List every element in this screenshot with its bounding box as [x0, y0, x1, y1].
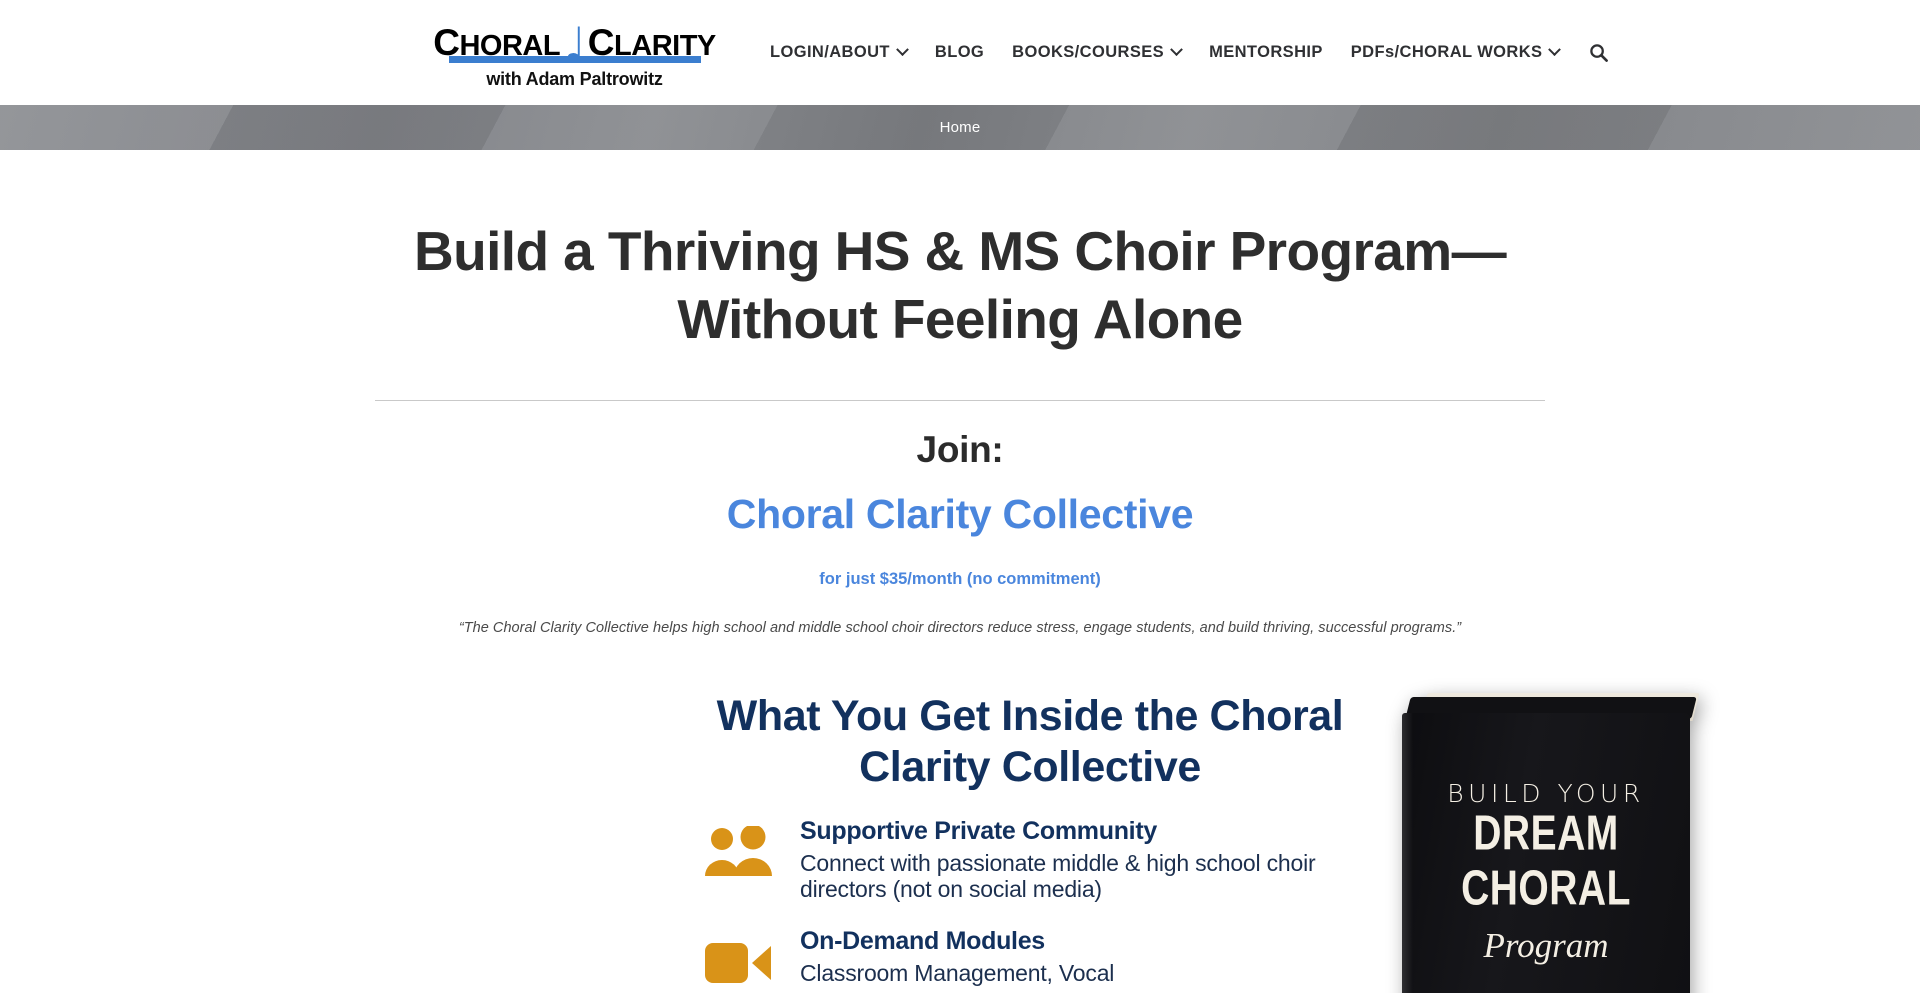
book-cover-text: BUILD YOUR DREAM CHORAL Program	[1402, 779, 1690, 966]
benefit-description: Connect with passionate middle & high sc…	[800, 850, 1360, 903]
people-group-icon	[703, 826, 775, 878]
price-line: for just $35/month (no commitment)	[819, 570, 1100, 589]
nav-item-books-courses[interactable]: BOOKS/COURSES	[998, 43, 1195, 62]
search-icon	[1589, 43, 1608, 62]
search-button[interactable]	[1573, 43, 1622, 62]
collective-name: Choral Clarity Collective	[727, 491, 1193, 538]
benefits-left-column: What You Get Inside the Choral Clarity C…	[700, 691, 1360, 991]
benefit-text: Supportive Private Community Connect wit…	[800, 817, 1360, 903]
book-title-line1: BUILD YOUR	[1402, 779, 1690, 808]
main-content: Build a Thriving HS & MS Choir Program—W…	[0, 150, 1920, 993]
nav-item-login-about[interactable]: LOGIN/ABOUT	[756, 43, 921, 62]
page-title: Build a Thriving HS & MS Choir Program—W…	[370, 218, 1550, 353]
chevron-down-icon	[1170, 43, 1183, 56]
benefit-item-modules: On-Demand Modules Classroom Management, …	[700, 927, 1360, 991]
benefit-item-community: Supportive Private Community Connect wit…	[700, 817, 1360, 903]
logo-clarity-cap: C	[588, 24, 614, 61]
benefits-section: What You Get Inside the Choral Clarity C…	[370, 691, 1550, 993]
logo-choral-cap: C	[433, 24, 459, 61]
nav-item-label: BLOG	[935, 43, 984, 62]
nav-item-label: PDFs/CHORAL WORKS	[1351, 43, 1543, 62]
benefit-title: On-Demand Modules	[800, 927, 1360, 956]
nav-item-label: MENTORSHIP	[1209, 43, 1323, 62]
logo-clarity-rest: LARITY	[614, 32, 716, 61]
nav-item-blog[interactable]: BLOG	[921, 43, 998, 62]
chevron-down-icon	[1549, 43, 1562, 56]
nav-item-mentorship[interactable]: MENTORSHIP	[1195, 43, 1337, 62]
treble-clef-icon: ♩	[564, 27, 586, 63]
breadcrumb-bar: Home	[0, 105, 1920, 150]
header-inner: CHORAL ♩ CLARITY with Adam Paltrowitz LO…	[0, 15, 1920, 90]
logo-choral-rest: HORAL	[459, 32, 560, 61]
hero-divider	[375, 400, 1545, 401]
benefit-icon-wrap	[700, 933, 778, 991]
breadcrumb-home-link[interactable]: Home	[940, 119, 981, 136]
benefit-text: On-Demand Modules Classroom Management, …	[800, 927, 1360, 986]
book-title-line3: Program	[1402, 926, 1690, 966]
site-logo[interactable]: CHORAL ♩ CLARITY with Adam Paltrowitz	[432, 17, 717, 90]
main-navigation: LOGIN/ABOUT BLOG BOOKS/COURSES MENTORSHI…	[756, 43, 1622, 62]
nav-item-pdfs-choral-works[interactable]: PDFs/CHORAL WORKS	[1337, 43, 1574, 62]
nav-item-label: LOGIN/ABOUT	[770, 43, 890, 62]
video-camera-icon	[703, 937, 775, 987]
benefit-title: Supportive Private Community	[800, 817, 1360, 846]
book-title-line2: DREAM CHORAL	[1402, 807, 1690, 917]
benefit-icon-wrap	[700, 823, 778, 881]
join-label: Join:	[917, 429, 1004, 471]
nav-item-label: BOOKS/COURSES	[1012, 43, 1164, 62]
book-image-wrap: BUILD YOUR DREAM CHORAL Program	[1402, 693, 1702, 993]
testimonial-quote: “The Choral Clarity Collective helps hig…	[459, 620, 1461, 636]
chevron-down-icon	[896, 43, 909, 56]
logo-wordmark: CHORAL ♩ CLARITY	[433, 17, 716, 61]
site-header: CHORAL ♩ CLARITY with Adam Paltrowitz LO…	[0, 0, 1920, 105]
benefits-heading: What You Get Inside the Choral Clarity C…	[700, 691, 1360, 792]
benefit-description: Classroom Management, Vocal	[800, 960, 1360, 987]
book-cover-image: BUILD YOUR DREAM CHORAL Program	[1402, 693, 1700, 993]
book-front-cover: BUILD YOUR DREAM CHORAL Program	[1402, 713, 1690, 993]
logo-subtitle: with Adam Paltrowitz	[486, 69, 662, 90]
